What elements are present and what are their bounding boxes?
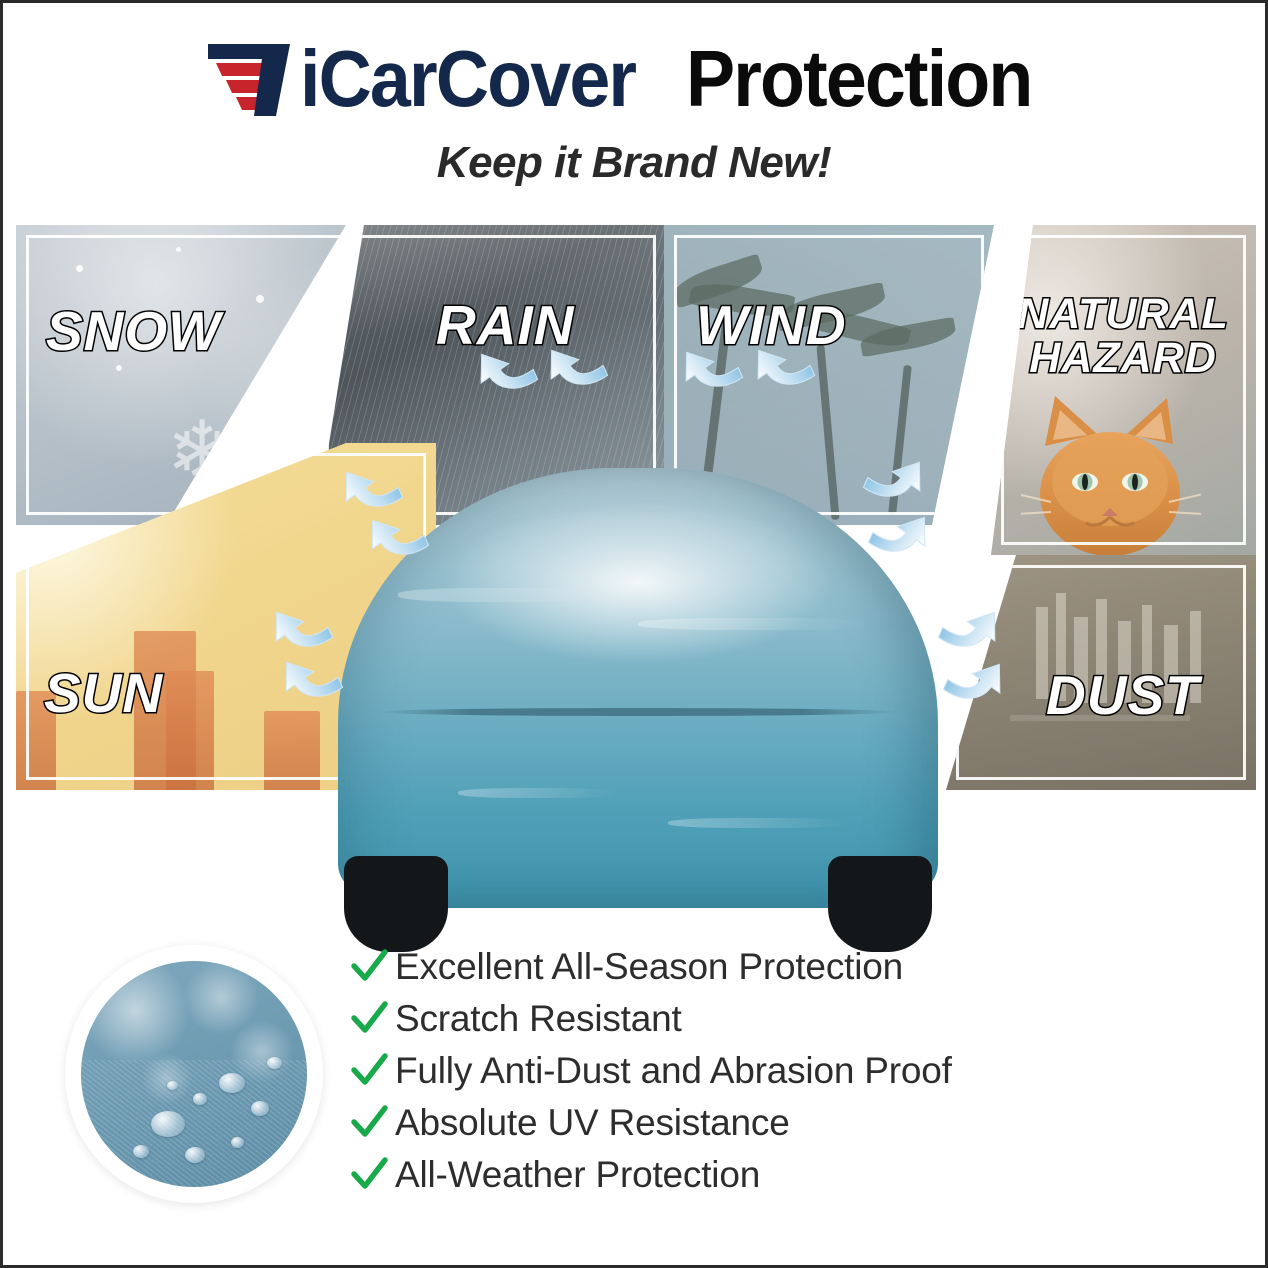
water-bead (193, 1093, 207, 1105)
snow-fleck (256, 295, 264, 303)
panel-label-rain: RAIN (436, 297, 574, 353)
feature-label: Fully Anti-Dust and Abrasion Proof (395, 1050, 952, 1092)
green-checkmark-icon (343, 1155, 395, 1195)
panel-label-snow: SNOW (46, 303, 221, 359)
snowflake-icon: ❄ (166, 410, 238, 496)
snow-fleck (176, 247, 181, 252)
water-bead (251, 1101, 269, 1116)
snow-fleck (76, 265, 83, 272)
panel-label-sun: SUN (44, 665, 163, 721)
header: iCarCover Protection Keep it Brand New! (3, 3, 1265, 203)
water-bead (219, 1073, 245, 1093)
panel-label-natural-hazard: NATURALHAZARD (991, 293, 1256, 381)
brand-lockup: iCarCover Protection (3, 31, 1265, 127)
fabric-fold (458, 788, 618, 798)
snow-fleck (301, 375, 306, 380)
car-with-cover (328, 428, 948, 958)
feature-item: Absolute UV Resistance (343, 1097, 1173, 1149)
cat-image (1021, 390, 1201, 555)
snow-fleck (116, 365, 122, 371)
feature-label: All-Weather Protection (395, 1154, 760, 1196)
feature-item: All-Weather Protection (343, 1149, 1173, 1201)
snow-fleck (226, 425, 233, 432)
feature-item: Excellent All-Season Protection (343, 941, 1173, 993)
feature-label: Absolute UV Resistance (395, 1102, 790, 1144)
green-checkmark-icon (343, 1051, 395, 1091)
feature-item: Fully Anti-Dust and Abrasion Proof (343, 1045, 1173, 1097)
green-checkmark-icon (343, 999, 395, 1039)
tagline: Keep it Brand New! (3, 138, 1265, 188)
fabric-weave (81, 1060, 307, 1187)
brand-suffix: Protection (686, 39, 1032, 119)
panel-label-wind: WIND (696, 297, 847, 353)
water-bead (167, 1081, 178, 1090)
feature-label: Scratch Resistant (395, 998, 682, 1040)
features-section: Excellent All-Season Protection Scratch … (3, 933, 1265, 1253)
fabric-fold (668, 818, 848, 828)
water-bead (267, 1057, 282, 1069)
panel-dust: DUST (946, 555, 1256, 790)
water-bead (185, 1147, 205, 1163)
fabric-fold (638, 618, 868, 630)
green-checkmark-icon (343, 947, 395, 987)
feature-list: Excellent All-Season Protection Scratch … (343, 941, 1173, 1201)
panel-label-dust: DUST (1046, 667, 1200, 723)
fabric-fold (398, 588, 598, 602)
water-bead (151, 1111, 185, 1137)
feature-label: Excellent All-Season Protection (395, 946, 903, 988)
rock-formation (166, 671, 214, 790)
feature-item: Scratch Resistant (343, 993, 1173, 1045)
panel-natural-hazard: NATURALHAZARD (991, 225, 1256, 555)
car-cover-fabric (338, 468, 938, 908)
brand-name: iCarCover (300, 39, 635, 119)
flag-emblem-icon (206, 42, 298, 116)
water-bead (231, 1137, 244, 1148)
green-checkmark-icon (343, 1103, 395, 1143)
water-beading-image (81, 961, 307, 1187)
product-infographic: iCarCover Protection Keep it Brand New! … (0, 0, 1268, 1268)
rock-formation (264, 711, 320, 790)
water-beading-swatch (65, 945, 323, 1203)
water-bead (133, 1145, 149, 1158)
cover-seam (378, 708, 898, 716)
